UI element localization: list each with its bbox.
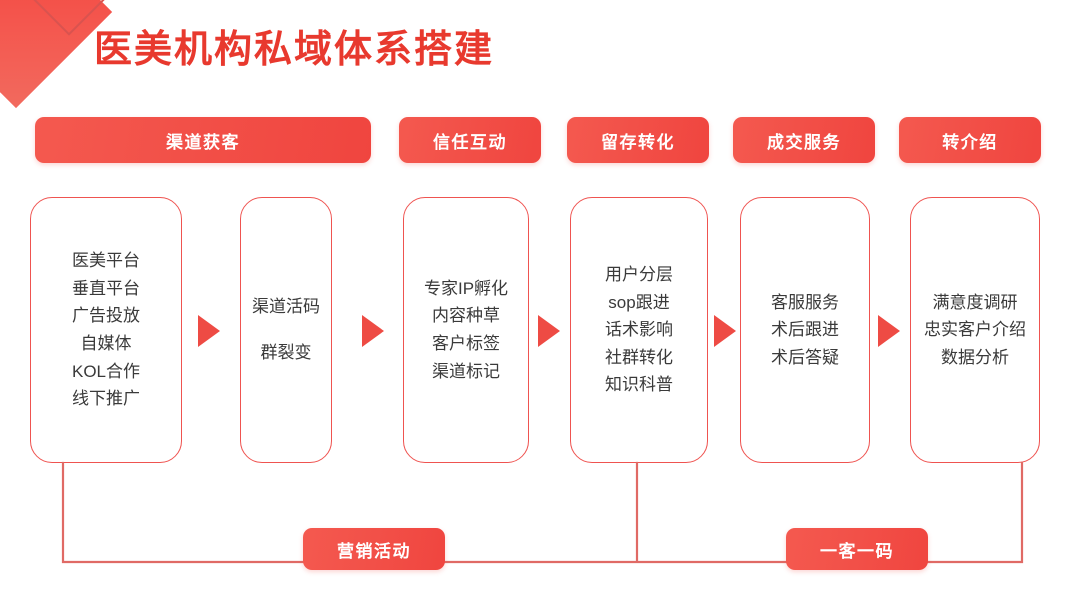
- flow-card-item: 客户标签: [424, 330, 508, 358]
- flow-card-deal-service[interactable]: 客服服务术后跟进术后答疑: [740, 197, 870, 463]
- bottom-badge-marketing-activity[interactable]: 营销活动: [303, 528, 445, 570]
- flow-card-item: 内容种草: [424, 302, 508, 330]
- flow-card-item: 忠实客户介绍: [924, 316, 1026, 344]
- flow-card-item: 群裂变: [252, 330, 320, 376]
- bottom-badge-one-customer-one-code[interactable]: 一客一码: [786, 528, 928, 570]
- flow-arrow-right-icon: [198, 315, 220, 347]
- stage-badge-label: 信任互动: [433, 128, 507, 153]
- flow-card-item: 专家IP孵化: [424, 275, 508, 303]
- stage-badge-channel-acquisition[interactable]: 渠道获客: [35, 117, 371, 163]
- flow-arrow-right-icon: [878, 315, 900, 347]
- flow-card-item: 渠道活码: [252, 284, 320, 330]
- flow-card-items: 专家IP孵化内容种草客户标签渠道标记: [418, 275, 514, 385]
- flow-card-item: 线下推广: [72, 385, 140, 413]
- flow-card-items: 医美平台垂直平台广告投放自媒体KOL合作线下推广: [66, 247, 146, 412]
- bottom-badge-label: 营销活动: [337, 537, 411, 562]
- flow-card-item: sop跟进: [605, 289, 673, 317]
- stage-badge-label: 渠道获客: [166, 128, 240, 153]
- flow-card-item: 满意度调研: [924, 289, 1026, 317]
- page-title: 医美机构私域体系搭建: [94, 31, 494, 69]
- stage-badge-referral[interactable]: 转介绍: [899, 117, 1041, 163]
- stage-badge-deal-service[interactable]: 成交服务: [733, 117, 875, 163]
- flow-card-item: 渠道标记: [424, 358, 508, 386]
- slide-canvas: 医美机构私域体系搭建 渠道获客 信任互动 留存转化 成交服务 转介绍 医美平台垂…: [0, 0, 1080, 592]
- flow-card-retention-conversion[interactable]: 用户分层sop跟进话术影响社群转化知识科普: [570, 197, 708, 463]
- flow-card-channel-acquisition[interactable]: 医美平台垂直平台广告投放自媒体KOL合作线下推广: [30, 197, 182, 463]
- flow-card-item: 医美平台: [72, 247, 140, 275]
- flow-card-items: 满意度调研忠实客户介绍数据分析: [918, 289, 1032, 372]
- flow-card-item: 数据分析: [924, 344, 1026, 372]
- flow-arrow-right-icon: [538, 315, 560, 347]
- flow-card-items: 用户分层sop跟进话术影响社群转化知识科普: [599, 261, 679, 399]
- flow-card-items: 客服服务术后跟进术后答疑: [765, 289, 845, 372]
- flow-card-item: 社群转化: [605, 344, 673, 372]
- flow-card-item: 用户分层: [605, 261, 673, 289]
- stage-badge-retention-conversion[interactable]: 留存转化: [567, 117, 709, 163]
- flow-card-items: 渠道活码群裂变: [246, 284, 326, 376]
- flow-card-item: 术后跟进: [771, 316, 839, 344]
- flow-card-item: 广告投放: [72, 302, 140, 330]
- flow-card-item: 垂直平台: [72, 275, 140, 303]
- flow-card-item: KOL合作: [72, 358, 140, 386]
- stage-badge-label: 留存转化: [601, 128, 675, 153]
- flow-card-referral[interactable]: 满意度调研忠实客户介绍数据分析: [910, 197, 1040, 463]
- flow-arrow-right-icon: [362, 315, 384, 347]
- flow-card-item: 客服服务: [771, 289, 839, 317]
- stage-badge-label: 成交服务: [767, 128, 841, 153]
- bottom-badge-label: 一客一码: [820, 537, 894, 562]
- flow-card-item: 自媒体: [72, 330, 140, 358]
- flow-card-channel-code[interactable]: 渠道活码群裂变: [240, 197, 332, 463]
- flow-card-item: 术后答疑: [771, 344, 839, 372]
- flow-card-item: 知识科普: [605, 371, 673, 399]
- stage-badge-label: 转介绍: [942, 128, 998, 153]
- flow-card-trust-interaction[interactable]: 专家IP孵化内容种草客户标签渠道标记: [403, 197, 529, 463]
- stage-badge-trust-interaction[interactable]: 信任互动: [399, 117, 541, 163]
- flow-arrow-right-icon: [714, 315, 736, 347]
- flow-card-item: 话术影响: [605, 316, 673, 344]
